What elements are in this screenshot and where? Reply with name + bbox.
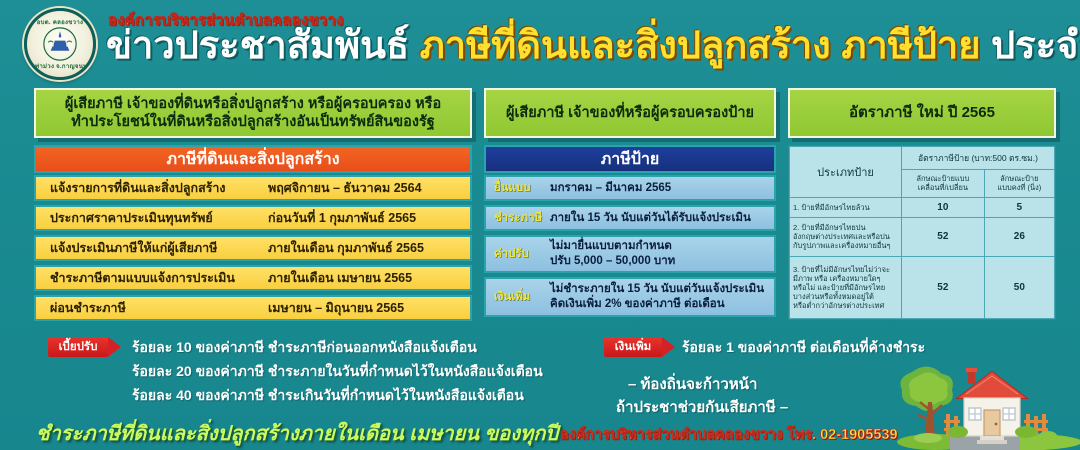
land-row-value: เมษายน – มิถุนายน 2565	[268, 298, 470, 318]
rate-row-type: 2. ป้ายที่มีอักษรไทยปน อังกฤษต่างประเทศแ…	[790, 217, 902, 257]
government-emblem-icon	[43, 27, 77, 61]
page-title: ข่าวประชาสัมพันธ์ ภาษีที่ดินและสิ่งปลูกส…	[106, 23, 1080, 65]
footer-slogan: ชำระภาษีที่ดินและสิ่งปลูกสร้างภายในเดือน…	[36, 417, 558, 449]
organization-logo: อบต. คลองขวาง อ.ท่าม่วง จ.กาญจนบุรี	[24, 8, 96, 80]
land-row-value: ภายในเดือน เมษายน 2565	[268, 268, 470, 288]
table-row: แจ้งรายการที่ดินและสิ่งปลูกสร้าง พฤศจิกา…	[34, 175, 472, 201]
sign-row-label: ชำระภาษี	[486, 209, 550, 227]
rate-row-moving: 10	[902, 197, 985, 217]
title-sign-tax: ภาษีป้าย	[841, 25, 980, 67]
title-news: ข่าวประชาสัมพันธ์	[106, 25, 409, 67]
house-and-tree-illustration-icon	[890, 358, 1080, 450]
poster-header: อบต. คลองขวาง อ.ท่าม่วง จ.กาญจนบุรี องค์…	[0, 0, 1080, 82]
banner-sign-taxpayer: ผู้เสียภาษี เจ้าของที่หรือผู้ครอบครองป้า…	[484, 88, 776, 138]
rate-col-moving: ลักษณะป้ายแบบ เคลื่อนที่/เปลี่ยน	[902, 170, 985, 197]
rate-col-fixed-line-2: แบบคงที่ (นิ่ง)	[988, 184, 1051, 193]
campaign-slogan-line-2: ถ้าประชาช่วยกันเสียภาษี –	[616, 395, 788, 419]
table-row: ยื่นแบบ มกราคม – มีนาคม 2565	[484, 175, 776, 201]
table-row: 2. ป้ายที่มีอักษรไทยปน อังกฤษต่างประเทศแ…	[790, 217, 1055, 257]
land-row-label: แจ้งรายการที่ดินและสิ่งปลูกสร้าง	[36, 178, 268, 198]
rate-row-fixed: 50	[984, 257, 1054, 319]
sign-tax-header: ภาษีป้าย	[484, 145, 776, 173]
sign-row-label: เงินเพิ่ม	[486, 288, 550, 306]
land-row-value: ก่อนวันที่ 1 กุมภาพันธ์ 2565	[268, 208, 470, 228]
rate-row-fixed: 5	[984, 197, 1054, 217]
sign-row-value: ไม่มายื่นแบบตามกำหนด ปรับ 5,000 – 50,000…	[550, 239, 774, 269]
land-row-label: ผ่อนชำระภาษี	[36, 298, 268, 318]
rate-row-fixed: 26	[984, 217, 1054, 257]
penalty-note-line-2: ร้อยละ 20 ของค่าภาษี ชำระภายในวันที่กำหน…	[132, 361, 543, 383]
rate-row-moving: 52	[902, 257, 985, 319]
rate-type-line: 3. ป้ายที่ไม่มีอักษรไทยไม่ว่าจะ	[793, 265, 898, 274]
rate-type-line: กับรูปภาพและเครื่องหมายอื่นๆ	[793, 241, 898, 250]
rate-col-type: ประเภทป้าย	[790, 147, 902, 198]
table-row: ค่าปรับ ไม่มายื่นแบบตามกำหนด ปรับ 5,000 …	[484, 235, 776, 273]
land-row-label: แจ้งประเมินภาษีให้แก่ผู้เสียภาษี	[36, 238, 268, 258]
land-row-value: ภายในเดือน กุมภาพันธ์ 2565	[268, 238, 470, 258]
title-land-tax: ภาษีที่ดินและสิ่งปลูกสร้าง	[420, 25, 831, 67]
sign-row-value-line-1: ไม่มายื่นแบบตามกำหนด	[550, 239, 774, 254]
sign-row-value-line-2: คิดเงินเพิ่ม 2% ของค่าภาษี ต่อเดือน	[550, 297, 774, 312]
land-row-label: ประกาศราคาประเมินทุนทรัพย์	[36, 208, 268, 228]
rate-col-moving-line-2: เคลื่อนที่/เปลี่ยน	[905, 184, 981, 193]
table-row: ชำระภาษีตามแบบแจ้งการประเมิน ภายในเดือน …	[34, 265, 472, 291]
land-row-label: ชำระภาษีตามแบบแจ้งการประเมิน	[36, 268, 268, 288]
sign-row-value: ไม่ชำระภายใน 15 วัน นับแต่วันแจ้งประเมิน…	[550, 282, 774, 312]
status-badge-surcharge: เงินเพิ่ม	[604, 337, 662, 357]
banner-new-tax-rate: อัตราภาษี ใหม่ ปี 2565	[788, 88, 1056, 138]
logo-ring-top-text: อบต. คลองขวาง	[27, 17, 93, 27]
rate-type-line: หรือต่ำกว่าอักษรต่างประเทศ	[793, 301, 898, 310]
sign-tax-rate-table: ประเภทป้าย อัตราภาษีป้าย (บาท:500 ตร.ซม.…	[788, 145, 1056, 320]
banner-land-line-1: ผู้เสียภาษี เจ้าของที่ดินหรือสิ่งปลูกสร้…	[65, 95, 441, 113]
rate-col-fixed: ลักษณะป้าย แบบคงที่ (นิ่ง)	[984, 170, 1054, 197]
rate-type-line: บางส่วนหรือทั้งหมดอยู่ใต้	[793, 292, 898, 301]
penalty-note-line-3: ร้อยละ 40 ของค่าภาษี ชำระเกินวันที่กำหนด…	[132, 385, 524, 407]
rate-type-line: 2. ป้ายที่มีอักษรไทยปน	[793, 223, 898, 232]
land-row-value: พฤศจิกายน – ธันวาคม 2564	[268, 178, 470, 198]
logo-ring-bottom-text: อ.ท่าม่วง จ.กาญจนบุรี	[27, 61, 93, 71]
table-row: ประกาศราคาประเมินทุนทรัพย์ ก่อนวันที่ 1 …	[34, 205, 472, 231]
table-row: 1. ป้ายที่มีอักษรไทยล้วน 10 5	[790, 197, 1055, 217]
banner-land-taxpayer: ผู้เสียภาษี เจ้าของที่ดินหรือสิ่งปลูกสร้…	[34, 88, 472, 138]
rate-row-moving: 52	[902, 217, 985, 257]
table-row: ผ่อนชำระภาษี เมษายน – มิถุนายน 2565	[34, 295, 472, 321]
rate-row-type: 3. ป้ายที่ไม่มีอักษรไทยไม่ว่าจะ มีภาพ หร…	[790, 257, 902, 319]
status-badge-penalty: เบี้ยปรับ	[48, 337, 108, 357]
sign-row-value-line-2: ปรับ 5,000 – 50,000 บาท	[550, 254, 774, 269]
surcharge-note-line: ร้อยละ 1 ของค่าภาษี ต่อเดือนที่ค้างชำระ	[682, 337, 925, 359]
table-row: เงินเพิ่ม ไม่ชำระภายใน 15 วัน นับแต่วันแ…	[484, 277, 776, 317]
penalty-note-line-1: ร้อยละ 10 ของค่าภาษี ชำระภาษีก่อนออกหนัง…	[132, 337, 477, 359]
sign-row-label: ค่าปรับ	[486, 245, 550, 263]
land-tax-header: ภาษีที่ดินและสิ่งปลูกสร้าง	[34, 145, 472, 173]
rate-col-group: อัตราภาษีป้าย (บาท:500 ตร.ซม.)	[902, 147, 1055, 170]
sign-row-label: ยื่นแบบ	[486, 179, 550, 197]
sign-row-value: ภายใน 15 วัน นับแต่วันได้รับแจ้งประเมิน	[550, 211, 774, 226]
footer-organization-contact: องค์การบริหารส่วนตำบลคลองขวาง โทร. 02-19…	[560, 423, 898, 446]
rate-type-line: หรือไม่ และป้ายที่มีอักษรไทย	[793, 283, 898, 292]
campaign-slogan-line-1: – ท้องถิ่นจะก้าวหน้า	[628, 372, 757, 396]
infographic-poster: อบต. คลองขวาง อ.ท่าม่วง จ.กาญจนบุรี องค์…	[0, 0, 1080, 450]
rate-type-line: 1. ป้ายที่มีอักษรไทยล้วน	[793, 203, 898, 212]
title-year-label: ประจำปี	[991, 25, 1080, 67]
rate-row-type: 1. ป้ายที่มีอักษรไทยล้วน	[790, 197, 902, 217]
table-row: 3. ป้ายที่ไม่มีอักษรไทยไม่ว่าจะ มีภาพ หร…	[790, 257, 1055, 319]
table-row: แจ้งประเมินภาษีให้แก่ผู้เสียภาษี ภายในเด…	[34, 235, 472, 261]
rate-type-line: มีภาพ หรือ เครื่องหมายใดๆ	[793, 274, 898, 283]
sign-row-value: มกราคม – มีนาคม 2565	[550, 181, 774, 196]
sign-row-value-line-1: ไม่ชำระภายใน 15 วัน นับแต่วันแจ้งประเมิน	[550, 282, 774, 297]
table-row: ชำระภาษี ภายใน 15 วัน นับแต่วันได้รับแจ้…	[484, 205, 776, 231]
banner-land-line-2: ทำประโยชน์ในที่ดินหรือสิ่งปลูกสร้างอันเป…	[65, 113, 441, 131]
